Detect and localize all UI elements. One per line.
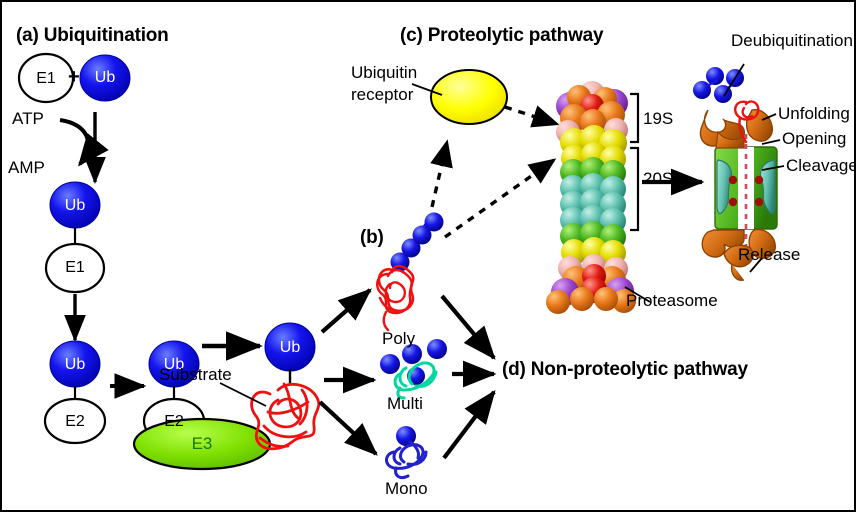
label-multi: Multi: [387, 395, 423, 412]
label-deubiquitination: Deubiquitination: [731, 32, 853, 49]
arrow-dashed-receptor-to-proteasome: [505, 107, 557, 124]
label-opening: Opening: [782, 130, 846, 147]
node-label-ub-free: Ub: [90, 70, 120, 86]
node-label-e2-second: E2: [159, 414, 189, 430]
poly-coil-panel-b: [377, 270, 411, 330]
leader-substrate: [220, 383, 266, 406]
arrow-poly-to-nonproteolytic: [442, 296, 494, 358]
node-ubiquitin-receptor: [431, 70, 507, 124]
arrow-dashed-chain-to-receptor: [432, 142, 447, 207]
substrate-coil: [252, 384, 319, 449]
bracket-20s: [630, 148, 638, 230]
arrow-dashed-chain-to-proteasome: [445, 160, 554, 237]
panel-b-label: (b): [360, 228, 384, 247]
label-unfolding: Unfolding: [778, 105, 850, 122]
arrow-branch-mono: [320, 402, 376, 454]
diagram-canvas: [2, 2, 856, 512]
panel-a-title: (a) Ubiquitination: [16, 26, 169, 45]
label-20s: 20S: [643, 170, 673, 187]
label-19s: 19S: [643, 110, 673, 127]
label-ubiquitin-receptor-line1: Ubiquitin: [351, 64, 417, 81]
label-ubiquitin-receptor-line2: receptor: [351, 86, 413, 103]
label-proteasome: Proteasome: [626, 292, 718, 309]
mono-coil: [387, 442, 427, 478]
node-label-e3: E3: [185, 435, 219, 452]
plus-sign: +: [68, 67, 80, 87]
label-cleavage: Cleavage: [786, 157, 856, 174]
panel-d-title: (d) Non-proteolytic pathway: [502, 360, 748, 379]
arrow-branch-poly: [322, 290, 370, 332]
bracket-19s: [630, 94, 638, 142]
proteasome-model: [546, 81, 636, 314]
released-ubiquitin-beads: [693, 67, 744, 103]
label-release: Release: [738, 246, 800, 263]
figure-panel: (a) Ubiquitination E1 + Ub ATP AMP Ub E1…: [0, 0, 856, 512]
label-atp: ATP: [12, 110, 44, 127]
panel-c-title: (c) Proteolytic pathway: [400, 26, 603, 45]
node-label-e2-first: E2: [60, 414, 90, 430]
arrow-mono-to-nonproteolytic: [444, 392, 494, 458]
label-mono: Mono: [385, 480, 428, 497]
label-poly: Poly: [382, 330, 415, 347]
node-label-e1-free: E1: [31, 71, 61, 87]
node-label-e1-bound: E1: [60, 260, 90, 276]
node-label-ub-substrate: Ub: [275, 340, 305, 356]
label-amp: AMP: [8, 159, 45, 176]
polyubiquitin-chain-panel-b: [391, 213, 444, 272]
label-substrate: Substrate: [159, 366, 232, 383]
node-label-ub-e2-first: Ub: [60, 357, 90, 373]
node-label-ub-e1: Ub: [60, 198, 90, 214]
arrow-atp-to-amp: [60, 120, 88, 164]
